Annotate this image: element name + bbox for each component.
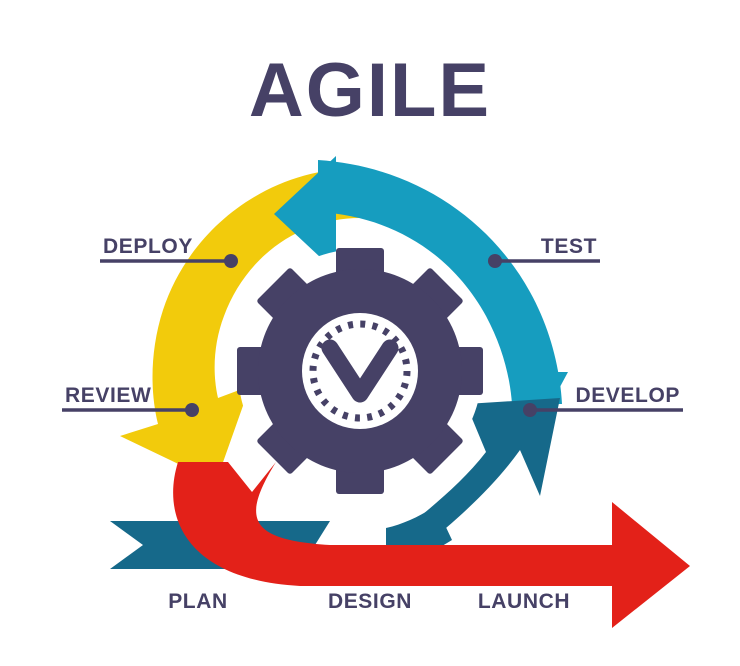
label-test: TEST	[541, 235, 597, 258]
label-review: REVIEW	[65, 384, 151, 407]
develop-leader-dot	[523, 403, 537, 417]
page-title: AGILE	[249, 48, 491, 133]
deploy-leader-dot	[224, 254, 238, 268]
label-develop: DEVELOP	[575, 384, 680, 407]
label-launch: LAUNCH	[478, 590, 570, 613]
review-leader-dot	[185, 403, 199, 417]
flow-arrow-shape	[173, 462, 690, 628]
label-plan: PLAN	[168, 590, 228, 613]
label-deploy: DEPLOY	[103, 235, 193, 258]
gear-inner-face	[302, 313, 418, 429]
label-design: DESIGN	[328, 590, 412, 613]
gear-icon	[237, 248, 483, 494]
agile-diagram-canvas: AGILE	[0, 0, 740, 666]
flow-arrow	[173, 462, 690, 628]
agile-cycle-illustration: AGILE	[0, 0, 740, 666]
test-leader-dot	[488, 254, 502, 268]
